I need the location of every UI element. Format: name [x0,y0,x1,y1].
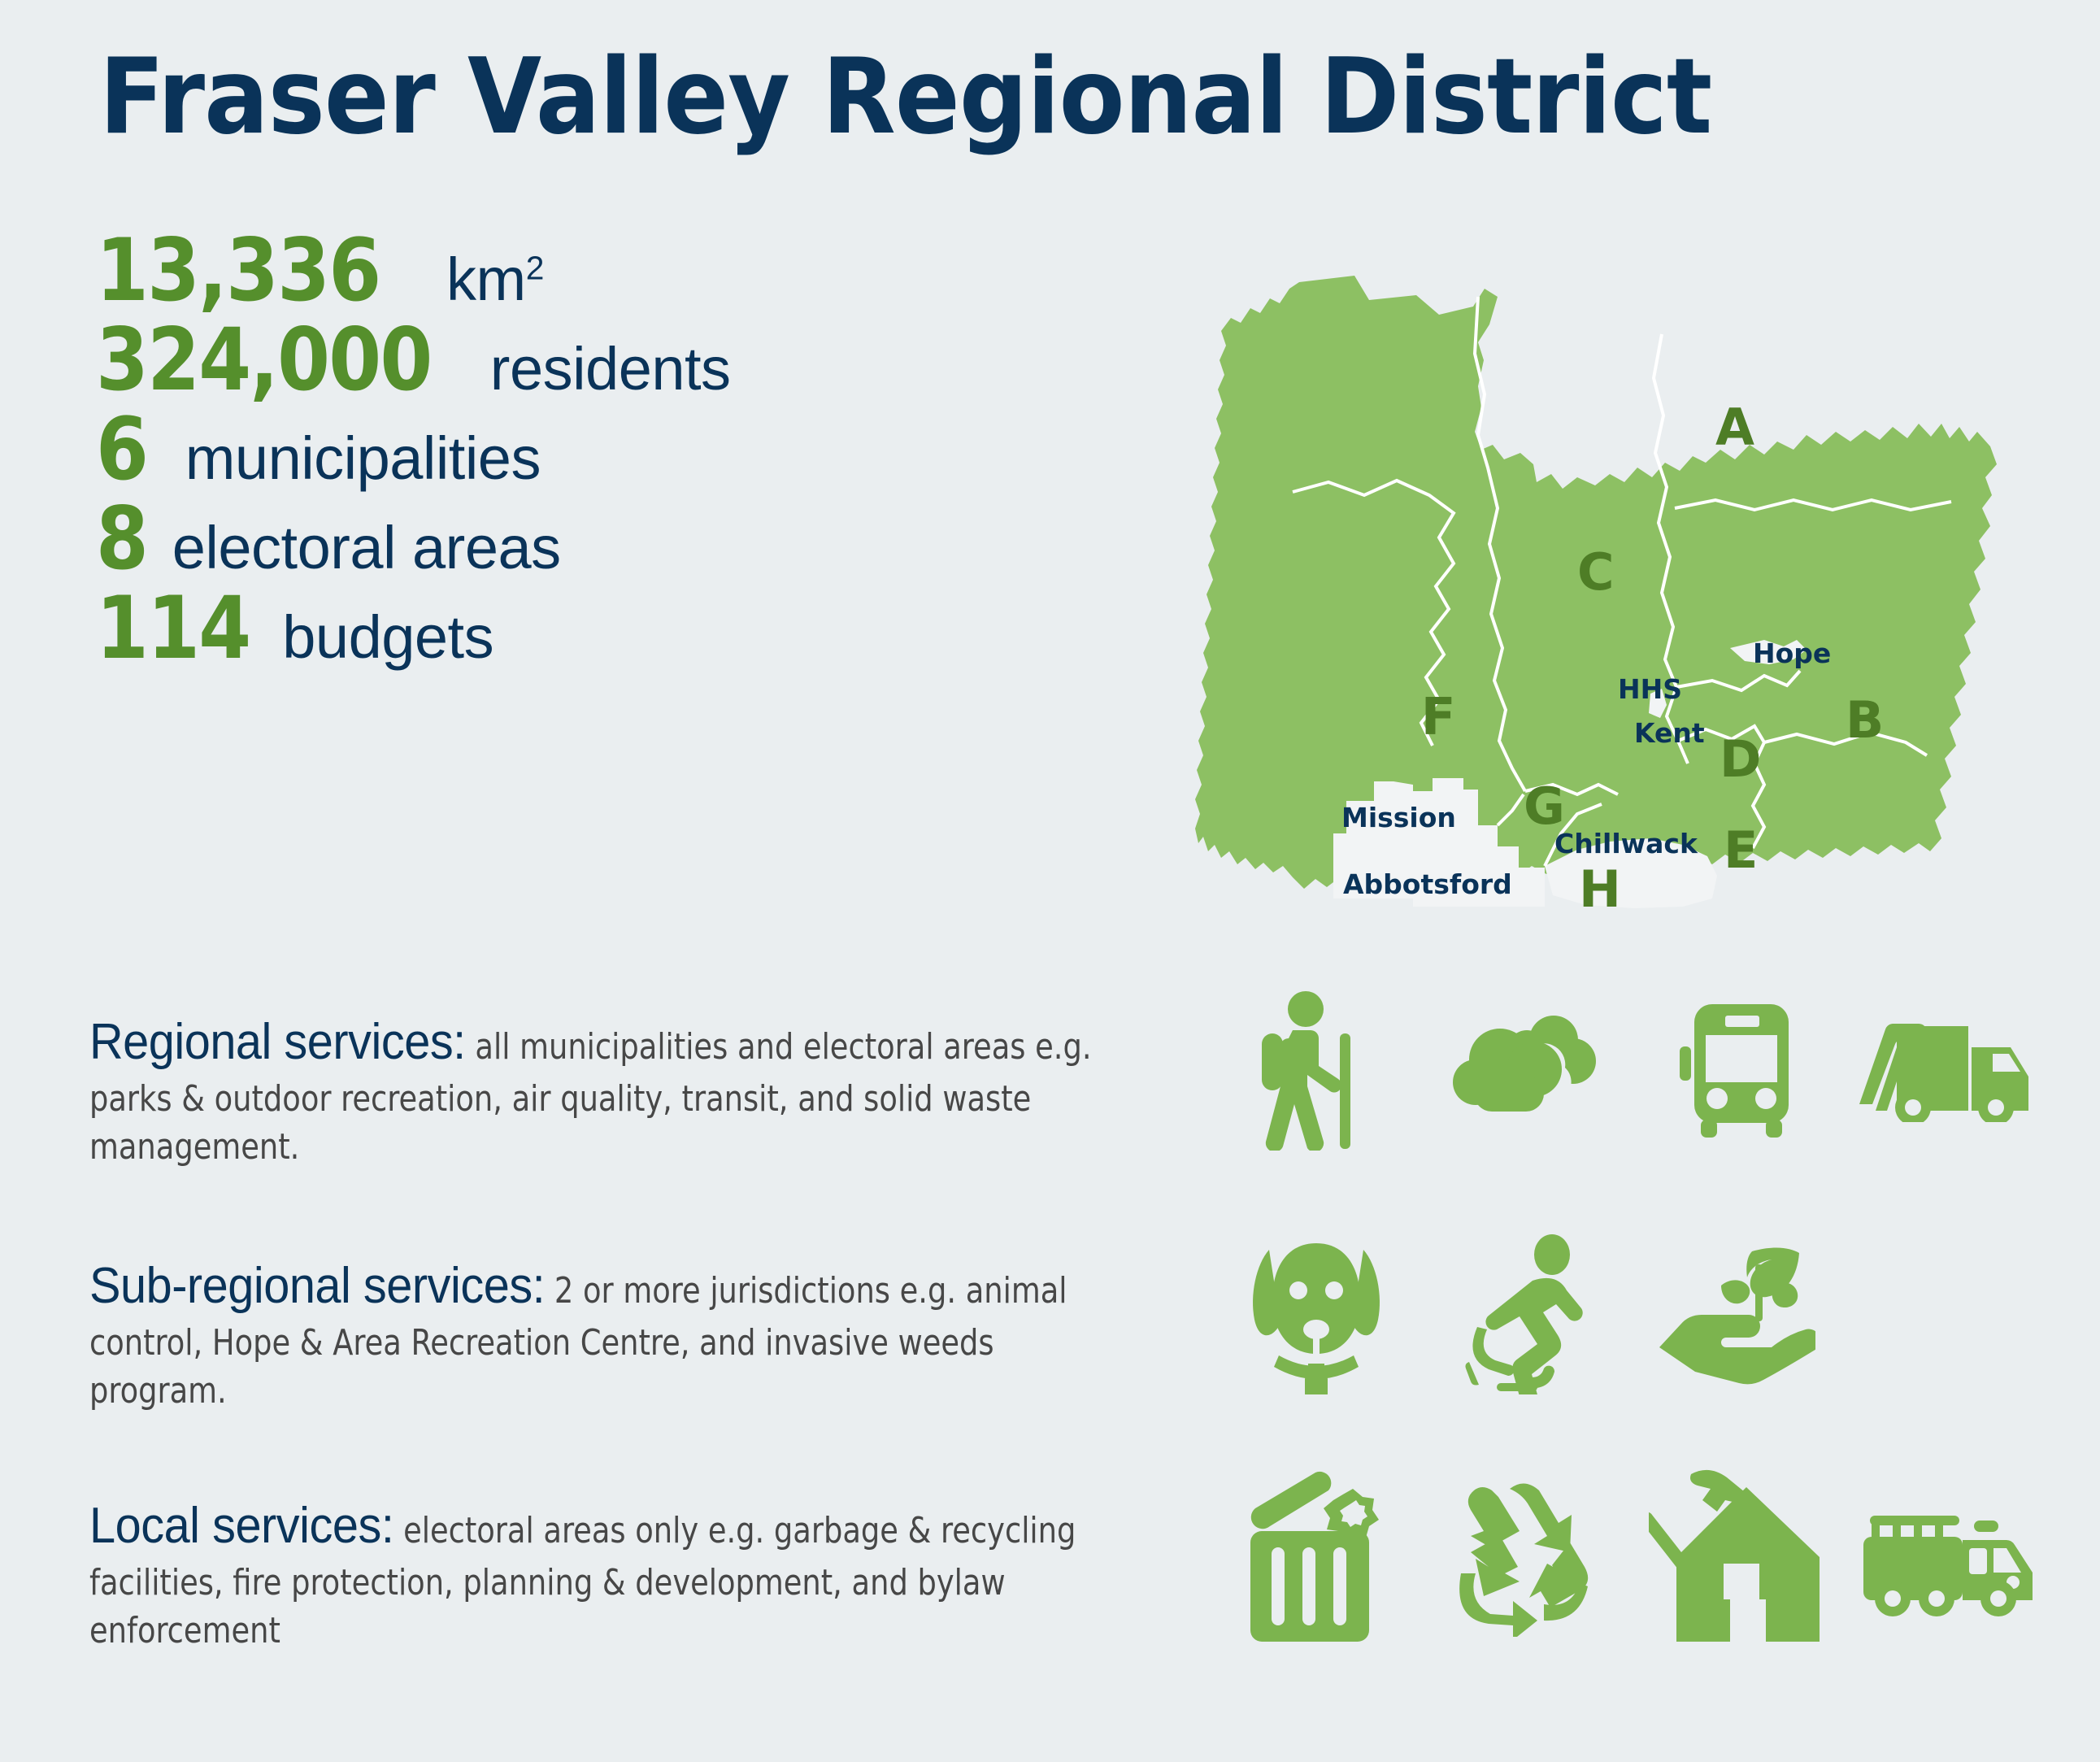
stat-label-area: km2 [446,250,544,310]
area-label-C: C [1577,542,1615,602]
icon-row-local [1211,1447,2049,1663]
service-heading-local: Local services: [89,1498,393,1554]
area-label-E: E [1724,820,1758,880]
ice-skater-icon [1420,1216,1629,1411]
fire-truck-icon [1838,1447,2047,1663]
map-label-chilliwack: Chillwack [1554,828,1698,859]
hand-plant-icon [1629,1216,1838,1411]
hiker-icon [1211,972,1420,1167]
area-label-A: A [1715,398,1754,457]
map-label-mission: Mission [1341,802,1456,833]
stat-row-budgets: 114 budgets [96,585,1072,672]
stat-row-area: 13,336 km2 [96,228,1072,314]
stat-superscript-area: 2 [526,249,544,286]
stat-row-electoral-areas: 8 electoral areas [96,496,1072,582]
stat-number-budgets: 114 [96,585,250,672]
statistics-list: 13,336 km2 324,000 residents 6 municipal… [96,228,1072,675]
service-heading-regional: Regional services: [89,1014,466,1070]
service-text-subregional: Sub-regional services: 2 or more jurisdi… [89,1252,1118,1416]
map-label-hope: Hope [1753,637,1831,669]
infographic-page: Fraser Valley Regional District 13,336 k… [0,0,2100,1762]
area-label-F2: F [1421,687,1455,746]
stat-label-budgets: budgets [282,607,493,668]
stat-label-municipalities: municipalities [185,429,541,489]
area-label-D: D [1720,729,1761,789]
area-label-B: B [1846,690,1884,750]
recycling-icon [1420,1447,1629,1663]
stat-number-municipalities: 6 [96,407,147,493]
dog-icon [1211,1216,1420,1411]
service-block-subregional: Sub-regional services: 2 or more jurisdi… [89,1252,1195,1416]
trash-bin-icon [1211,1447,1420,1663]
clouds-icon [1420,972,1629,1167]
stat-number-area: 13,336 [96,228,380,314]
stat-label-residents: residents [490,339,731,399]
service-text-regional: Regional services: all municipalities an… [89,1008,1118,1172]
regional-district-map: A B C D E F F G H Hope HHS Kent Mission … [1195,264,2024,919]
icon-row-subregional [1211,1216,2049,1411]
stat-row-municipalities: 6 municipalities [96,407,1072,493]
map-label-kent: Kent [1634,717,1705,749]
stat-label-electoral-areas: electoral areas [172,518,561,578]
service-heading-subregional: Sub-regional services: [89,1258,545,1314]
stat-number-residents: 324,000 [96,317,432,403]
area-label-H: H [1579,859,1621,919]
service-block-local: Local services: electoral areas only e.g… [89,1492,1195,1655]
garbage-truck-icon [1838,972,2047,1167]
page-title: Fraser Valley Regional District [99,41,1711,155]
stat-number-electoral-areas: 8 [96,496,147,582]
stat-row-residents: 324,000 residents [96,317,1072,403]
service-block-regional: Regional services: all municipalities an… [89,1008,1195,1172]
map-label-hhs: HHS [1618,673,1682,705]
service-text-local: Local services: electoral areas only e.g… [89,1492,1118,1655]
map-label-abbotsford: Abbotsford [1343,868,1512,900]
house-hammer-icon [1629,1447,1838,1663]
icon-row-regional [1211,972,2049,1167]
bus-icon [1629,972,1838,1167]
